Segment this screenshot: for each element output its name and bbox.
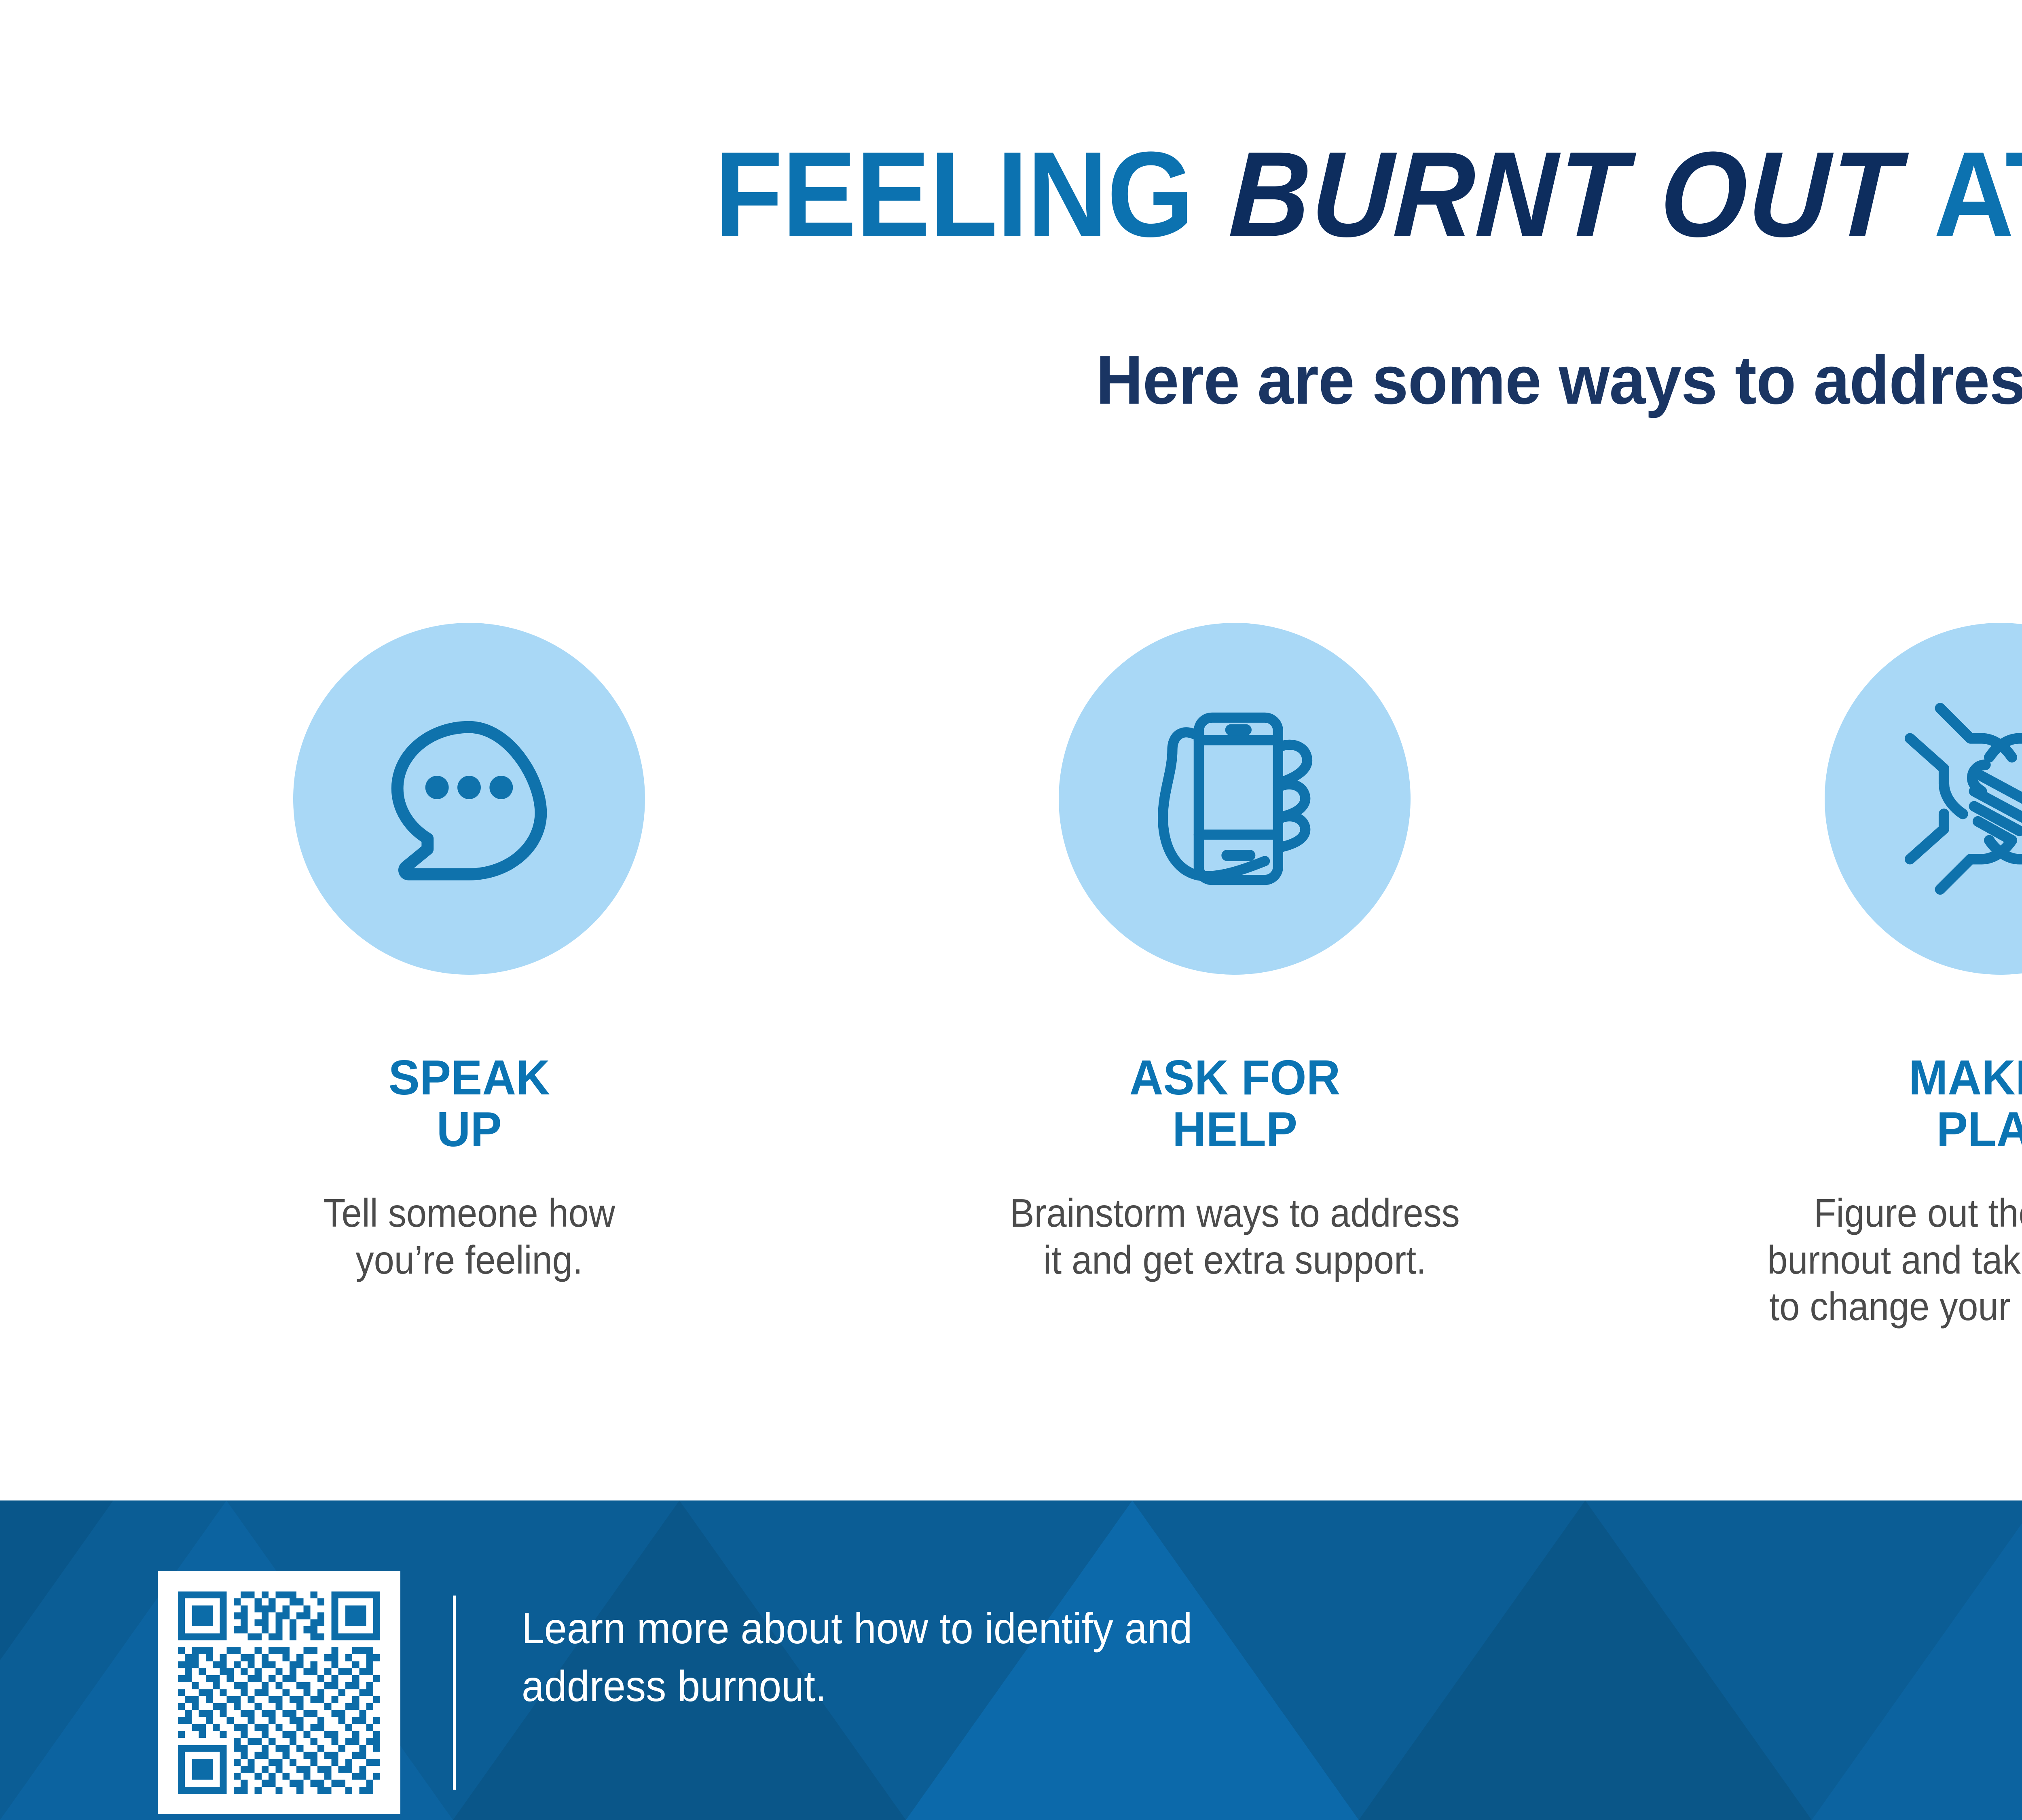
tips-row: SPEAK UP Tell someone how you’re feeling… <box>105 623 2022 1330</box>
tip-card-make-a-plan: MAKE A PLAN Figure out the cause of burn… <box>1637 623 2022 1330</box>
title-part-feeling: FEELING <box>715 126 1193 262</box>
card-heading: SPEAK UP <box>388 1052 550 1155</box>
footer-bar: Learn more about how to identify and add… <box>0 1500 2022 1820</box>
subtitle-text: Here are some ways to address it: <box>1096 346 2022 415</box>
card-body-text: Brainstorm ways to address it and get ex… <box>1010 1190 1459 1283</box>
card-body-text: Figure out the cause of burnout and take… <box>1767 1190 2022 1330</box>
icon-circle <box>293 623 645 975</box>
tip-card-ask-for-help: ASK FOR HELP Brainstorm ways to address … <box>871 623 1599 1283</box>
card-heading: ASK FOR HELP <box>1129 1052 1341 1155</box>
qr-code-panel[interactable] <box>158 1571 400 1814</box>
page-subtitle: Here are some ways to address it: <box>0 346 2022 415</box>
tip-card-speak-up: SPEAK UP Tell someone how you’re feeling… <box>105 623 833 1283</box>
page-title: FEELING BURNT OUT AT WORK? <box>0 133 2022 255</box>
title-part-at-work: AT WORK? <box>1933 126 2022 262</box>
infographic-canvas: FEELING BURNT OUT AT WORK? Here are some… <box>0 0 2022 1820</box>
hand-holding-phone-icon <box>1121 686 1348 912</box>
title-part-burnt-out: BURNT OUT <box>1220 133 1910 255</box>
card-body-text: Tell someone how you’re feeling. <box>323 1190 615 1283</box>
footer-cta-text: Learn more about how to identify and add… <box>522 1600 1192 1715</box>
joined-hands-icon <box>1887 686 2022 912</box>
speech-bubble-icon <box>356 686 582 912</box>
icon-circle <box>1825 623 2022 975</box>
icon-circle <box>1059 623 1411 975</box>
footer-divider <box>453 1596 456 1790</box>
qr-code-icon[interactable] <box>178 1591 380 1794</box>
card-heading: MAKE A PLAN <box>1909 1052 2022 1155</box>
title-line: FEELING BURNT OUT AT WORK? <box>715 133 2022 255</box>
